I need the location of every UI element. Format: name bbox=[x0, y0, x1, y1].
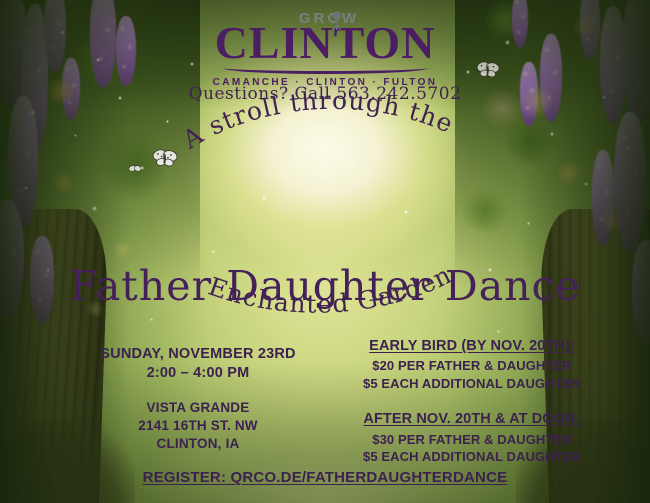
event-flyer: GROW CLINTON CAMANCHE · CLINTON · FULTON… bbox=[0, 0, 650, 503]
logo-clinton-word: CLINTON bbox=[0, 22, 650, 64]
event-time: 2:00 – 4:00 PM bbox=[78, 364, 318, 383]
water-tower-icon bbox=[330, 11, 344, 38]
event-venue-name: VISTA GRANDE bbox=[78, 399, 318, 417]
pricing-line-1: $20 PER FATHER & DAUGHTER bbox=[322, 357, 622, 374]
pricing-tier-early-bird: EARLY BIRD (BY NOV. 20TH): $20 PER FATHE… bbox=[322, 337, 622, 392]
arched-subtitle: A stroll through the Enchanted Garden bbox=[0, 140, 650, 245]
flyer-title: Father Daughter Dance bbox=[0, 266, 650, 307]
pricing-heading: EARLY BIRD (BY NOV. 20TH): bbox=[322, 337, 622, 356]
register-link[interactable]: REGISTER: QRCO.DE/FATHERDAUGHTERDANCE bbox=[0, 469, 650, 486]
event-city: CLINTON, IA bbox=[78, 435, 318, 453]
event-details-block: SUNDAY, NOVEMBER 23RD 2:00 – 4:00 PM VIS… bbox=[78, 345, 318, 453]
pricing-heading: AFTER NOV. 20TH & AT DOOR: bbox=[322, 410, 622, 429]
pricing-line-2: $5 EACH ADDITIONAL DAUGHTER bbox=[322, 448, 622, 465]
pricing-line-1: $30 PER FATHER & DAUGHTER bbox=[322, 431, 622, 448]
grow-clinton-logo: GROW CLINTON CAMANCHE · CLINTON · FULTON bbox=[0, 10, 650, 88]
pricing-line-2: $5 EACH ADDITIONAL DAUGHTER bbox=[322, 375, 622, 392]
logo-grow-word: GROW bbox=[299, 11, 359, 26]
pricing-tier-after-date: AFTER NOV. 20TH & AT DOOR: $30 PER FATHE… bbox=[322, 410, 622, 465]
event-street: 2141 16TH ST. NW bbox=[78, 417, 318, 435]
event-date: SUNDAY, NOVEMBER 23RD bbox=[78, 345, 318, 364]
pricing-block: EARLY BIRD (BY NOV. 20TH): $20 PER FATHE… bbox=[322, 337, 622, 465]
